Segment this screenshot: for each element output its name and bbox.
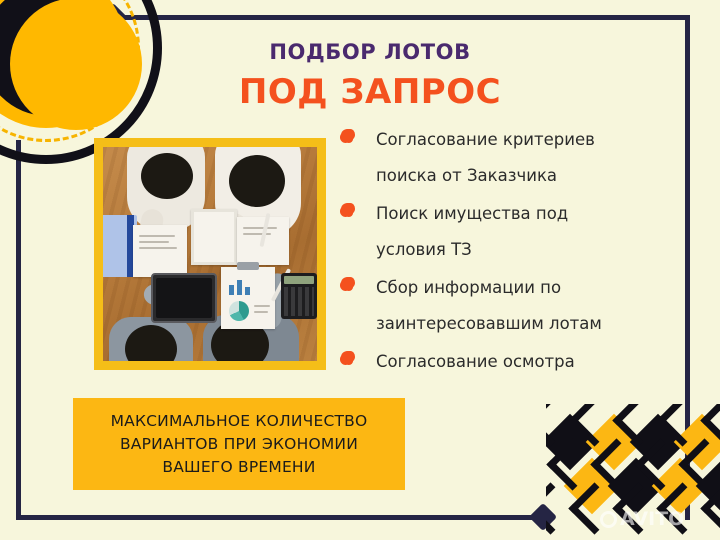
watermark-label: AVITO bbox=[620, 508, 684, 530]
pie-chart bbox=[229, 301, 249, 321]
page-subtitle: ПОДБОР ЛОТОВ bbox=[110, 40, 630, 64]
photo-frame bbox=[94, 138, 326, 370]
calculator-keys bbox=[284, 287, 314, 316]
frame-line-bottom bbox=[16, 515, 544, 520]
highlight-banner: МАКСИМАЛЬНОЕ КОЛИЧЕСТВО ВАРИАНТОВ ПРИ ЭК… bbox=[73, 398, 405, 490]
list-item: Согласование осмотра bbox=[341, 344, 671, 380]
folder bbox=[103, 215, 137, 277]
doc-line bbox=[139, 235, 175, 237]
bullet-dot-icon bbox=[341, 351, 354, 364]
document-center bbox=[191, 209, 237, 265]
list-item: Поиск имущества под условия ТЗ bbox=[341, 196, 671, 268]
doc-line bbox=[254, 311, 268, 313]
tablet-device bbox=[151, 273, 217, 323]
chart-bar bbox=[237, 280, 242, 295]
list-item-label: Сбор информации по заинтересовавшим лота… bbox=[376, 270, 671, 342]
frame-line-top bbox=[110, 15, 690, 20]
highlight-banner-text: МАКСИМАЛЬНОЕ КОЛИЧЕСТВО ВАРИАНТОВ ПРИ ЭК… bbox=[111, 410, 368, 479]
doc-line bbox=[139, 241, 169, 243]
list-item: Сбор информации по заинтересовавшим лота… bbox=[341, 270, 671, 342]
chart-bar bbox=[229, 285, 234, 295]
person-hair bbox=[141, 153, 193, 199]
calculator-screen bbox=[284, 276, 314, 284]
chart-bar bbox=[245, 287, 250, 295]
bullet-dot-icon bbox=[341, 203, 354, 216]
circle-disc-yellow bbox=[0, 0, 126, 128]
person-hair bbox=[229, 155, 285, 207]
benefit-list: Согласование критериев поиска от Заказчи… bbox=[341, 122, 671, 382]
doc-line bbox=[139, 247, 177, 249]
doc-line bbox=[243, 227, 277, 229]
circle-icon bbox=[600, 511, 617, 528]
team-meeting-photo bbox=[103, 147, 317, 361]
doc-line bbox=[243, 233, 271, 235]
clipboard-clip bbox=[237, 262, 259, 270]
bullet-dot-icon bbox=[341, 129, 354, 142]
avito-watermark: AVITO bbox=[600, 505, 718, 533]
tablet-screen bbox=[156, 278, 212, 318]
calculator bbox=[281, 273, 317, 319]
bullet-dot-icon bbox=[341, 277, 354, 290]
list-item: Согласование критериев поиска от Заказчи… bbox=[341, 122, 671, 194]
page-title: ПОД ЗАПРОС bbox=[110, 72, 630, 112]
list-item-label: Поиск имущества под условия ТЗ bbox=[376, 196, 671, 268]
list-item-label: Согласование критериев поиска от Заказчи… bbox=[376, 122, 671, 194]
doc-line bbox=[254, 305, 270, 307]
poster-canvas: ПОДБОР ЛОТОВ ПОД ЗАПРОС bbox=[0, 0, 720, 540]
frame-line-left bbox=[16, 140, 21, 520]
document-left bbox=[133, 225, 187, 277]
list-item-label: Согласование осмотра bbox=[376, 344, 671, 380]
clipboard-report bbox=[221, 267, 275, 329]
